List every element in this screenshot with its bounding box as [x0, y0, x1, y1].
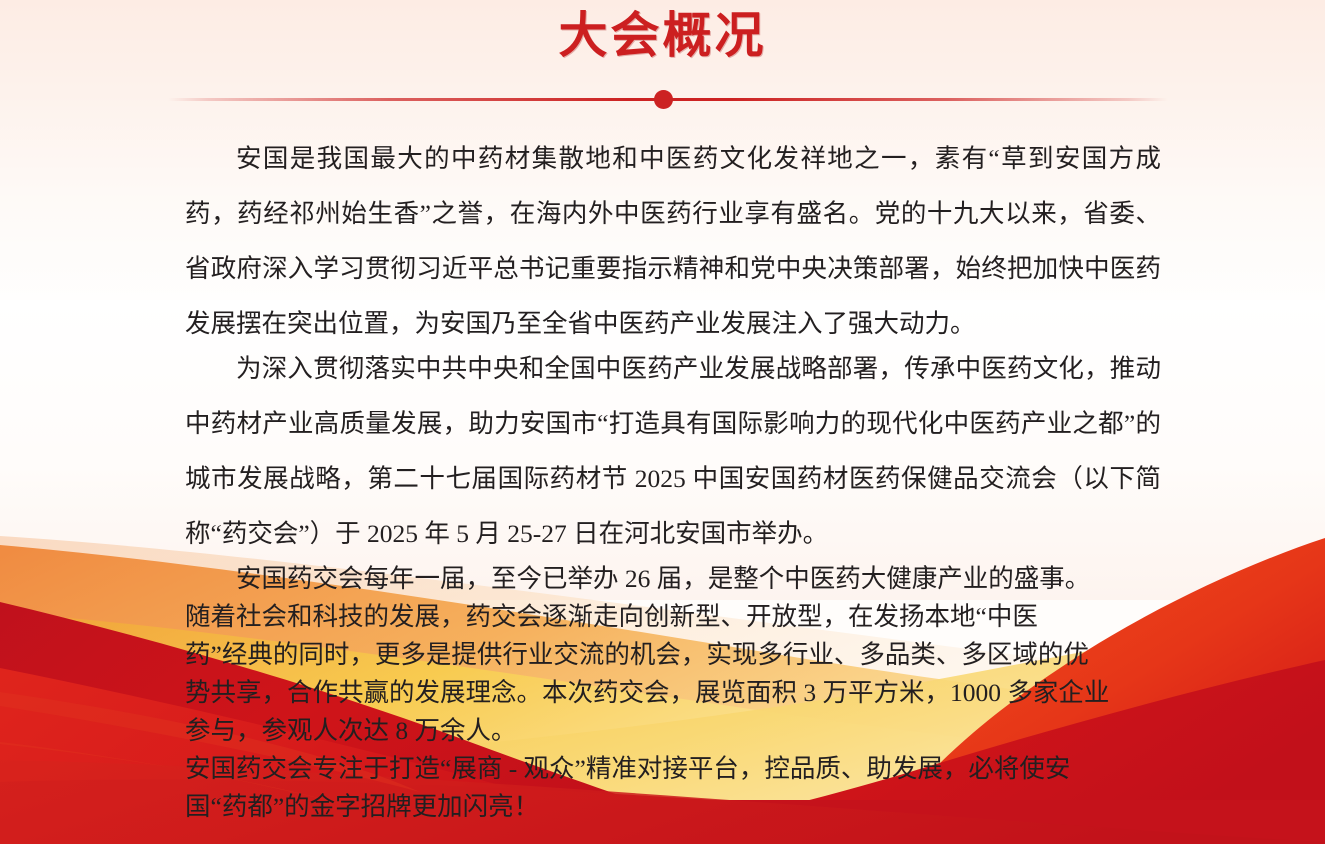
overview-closing-block: 安国药交会每年一届，至今已举办 26 届，是整个中医药大健康产业的盛事。 随着社… — [185, 560, 1161, 826]
closing-line-6: 安国药交会专注于打造“展商 - 观众”精准对接平台，控品质、助发展，必将使安 — [185, 750, 1161, 788]
divider-dot-icon — [654, 90, 673, 109]
section-divider — [0, 92, 1325, 112]
closing-line-3: 药”经典的同时，更多是提供行业交流的机会，实现多行业、多品类、多区域的优 — [185, 636, 1161, 674]
overview-paragraph-2: 为深入贯彻落实中共中央和全国中医药产业发展战略部署，传承中医药文化，推动中药材产… — [185, 341, 1161, 561]
page-title: 大会概况 — [0, 0, 1325, 64]
overview-paragraph-1: 安国是我国最大的中药材集散地和中医药文化发祥地之一，素有“草到安国方成药，药经祁… — [185, 131, 1161, 351]
closing-line-7: 国“药都”的金字招牌更加闪亮！ — [185, 788, 1161, 826]
closing-line-1: 安国药交会每年一届，至今已举办 26 届，是整个中医药大健康产业的盛事。 — [185, 560, 1161, 598]
closing-line-2: 随着社会和科技的发展，药交会逐渐走向创新型、开放型，在发扬本地“中医 — [185, 598, 1161, 636]
page-header: 大会概况 — [0, 0, 1325, 64]
conference-overview-page: 大会概况 安国是我国最大的中药材集散地和中医药文化发祥地之一，素有“草到安国方成… — [0, 0, 1325, 844]
closing-line-5: 参与，参观人次达 8 万余人。 — [185, 712, 1161, 750]
closing-line-4: 势共享，合作共赢的发展理念。本次药交会，展览面积 3 万平方米，1000 多家企… — [185, 674, 1161, 712]
